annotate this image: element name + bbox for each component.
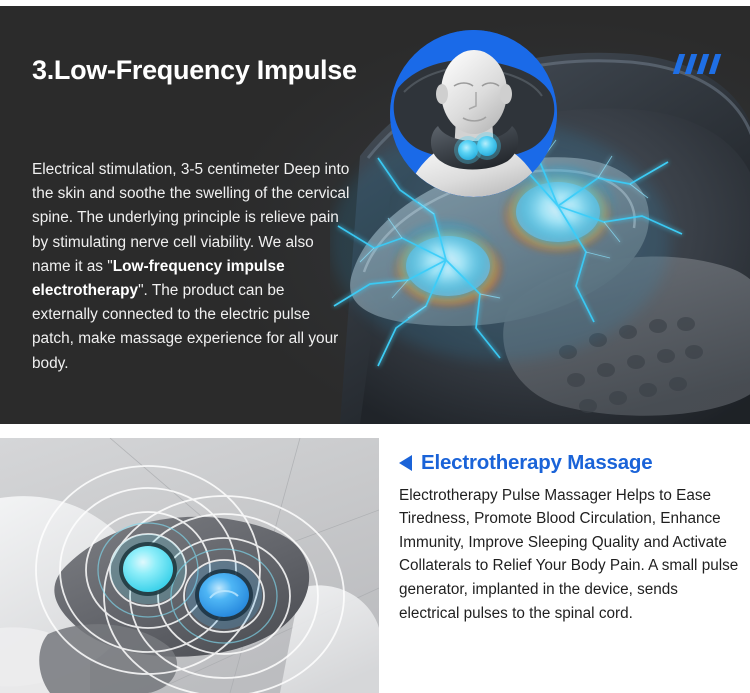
- info-heading-label: Electrotherapy Massage: [421, 452, 652, 475]
- section-headline: 3.Low-Frequency Impulse: [32, 54, 372, 87]
- product-feature-page: 3.Low-Frequency Impulse Electrical stimu…: [0, 0, 750, 693]
- decorative-slashes: [676, 54, 728, 74]
- electrode-closeup-photo: [0, 438, 379, 693]
- triangle-left-icon: [399, 455, 412, 471]
- electrotherapy-massage-info: Electrotherapy Massage Electrotherapy Pu…: [399, 452, 739, 625]
- mannequin-neck-massager-inset: [390, 30, 557, 197]
- low-frequency-impulse-panel: 3.Low-Frequency Impulse Electrical stimu…: [0, 6, 750, 424]
- section-body-copy: Electrical stimulation, 3-5 centimeter D…: [32, 158, 352, 376]
- info-paragraph: Electrotherapy Pulse Massager Helps to E…: [399, 484, 739, 626]
- info-heading: Electrotherapy Massage: [399, 452, 739, 475]
